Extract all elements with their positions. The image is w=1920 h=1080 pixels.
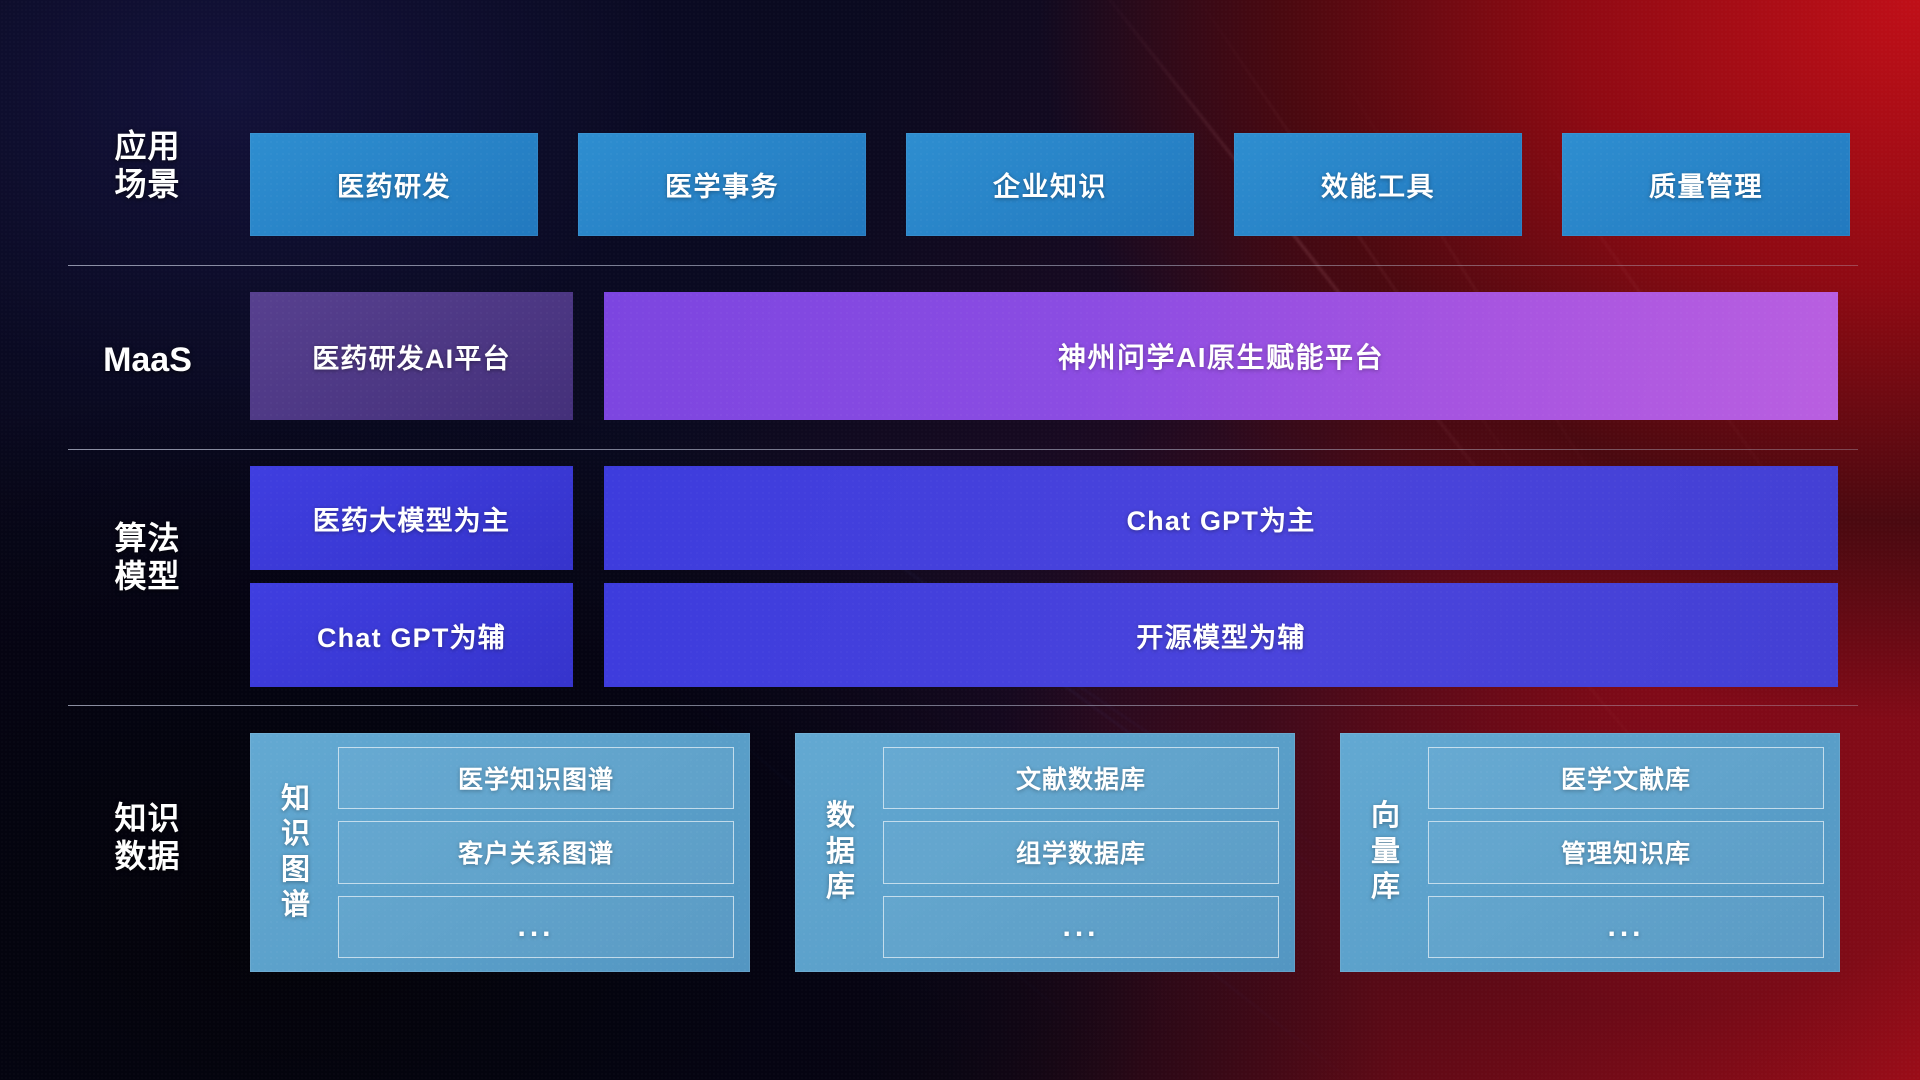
maas-box-shenzhou-platform[interactable]: 神州问学AI原生赋能平台: [604, 292, 1838, 420]
knowledge-panel-knowledge-graph[interactable]: 知识图谱 医学知识图谱 客户关系图谱 ...: [250, 733, 750, 972]
app-box-label: 质量管理: [1649, 165, 1763, 204]
knowledge-item-more[interactable]: ...: [338, 896, 734, 958]
app-box-label: 医学事务: [665, 165, 779, 204]
knowledge-panel-title: 数据库: [809, 747, 873, 958]
app-box-medical-affairs[interactable]: 医学事务: [578, 133, 866, 236]
maas-box-label: 神州问学AI原生赋能平台: [1058, 336, 1384, 376]
knowledge-panel-vector-store[interactable]: 向量库 医学文献库 管理知识库 ...: [1340, 733, 1840, 972]
knowledge-item-more[interactable]: ...: [1428, 896, 1824, 958]
app-box-label: 效能工具: [1321, 165, 1435, 204]
algo-box-opensource-secondary[interactable]: 开源模型为辅: [604, 583, 1838, 687]
algo-box-medicine-llm-primary[interactable]: 医药大模型为主: [250, 466, 573, 570]
knowledge-panel-database[interactable]: 数据库 文献数据库 组学数据库 ...: [795, 733, 1295, 972]
knowledge-item[interactable]: 管理知识库: [1428, 821, 1824, 883]
knowledge-panel-title: 知识图谱: [264, 747, 328, 958]
app-box-efficiency-tools[interactable]: 效能工具: [1234, 133, 1522, 236]
algo-box-label: 开源模型为辅: [1136, 616, 1305, 655]
algo-box-chatgpt-secondary[interactable]: Chat GPT为辅: [250, 583, 573, 687]
row-label-knowledge: 知识 数据: [60, 800, 235, 876]
maas-box-label: 医药研发AI平台: [312, 337, 511, 376]
algo-box-label: Chat GPT为主: [1126, 499, 1315, 538]
knowledge-item[interactable]: 医学知识图谱: [338, 747, 734, 809]
knowledge-item[interactable]: 文献数据库: [883, 747, 1279, 809]
architecture-diagram: 应用 场景 医药研发 医学事务 企业知识 效能工具 质量管理 MaaS 医药研发…: [0, 0, 1920, 1080]
knowledge-item[interactable]: 客户关系图谱: [338, 821, 734, 883]
algo-box-label: 医药大模型为主: [313, 499, 510, 538]
knowledge-item[interactable]: 医学文献库: [1428, 747, 1824, 809]
app-box-quality-management[interactable]: 质量管理: [1562, 133, 1850, 236]
row-label-maas: MaaS: [60, 340, 235, 380]
knowledge-panel-title: 向量库: [1354, 747, 1418, 958]
row-label-application: 应用 场景: [60, 128, 235, 204]
divider-application-maas: [68, 265, 1858, 266]
row-label-algorithm: 算法 模型: [60, 520, 235, 596]
knowledge-item-list: 文献数据库 组学数据库 ...: [883, 747, 1279, 958]
knowledge-item-more[interactable]: ...: [883, 896, 1279, 958]
algo-box-chatgpt-primary[interactable]: Chat GPT为主: [604, 466, 1838, 570]
knowledge-item[interactable]: 组学数据库: [883, 821, 1279, 883]
knowledge-item-list: 医学知识图谱 客户关系图谱 ...: [338, 747, 734, 958]
divider-maas-algorithm: [68, 449, 1858, 450]
divider-algorithm-knowledge: [68, 705, 1858, 706]
knowledge-item-list: 医学文献库 管理知识库 ...: [1428, 747, 1824, 958]
app-box-medicine-rd[interactable]: 医药研发: [250, 133, 538, 236]
algo-box-label: Chat GPT为辅: [317, 616, 506, 655]
app-box-enterprise-knowledge[interactable]: 企业知识: [906, 133, 1194, 236]
app-box-label: 医药研发: [337, 165, 451, 204]
maas-box-medicine-ai-platform[interactable]: 医药研发AI平台: [250, 292, 573, 420]
app-box-label: 企业知识: [993, 165, 1107, 204]
